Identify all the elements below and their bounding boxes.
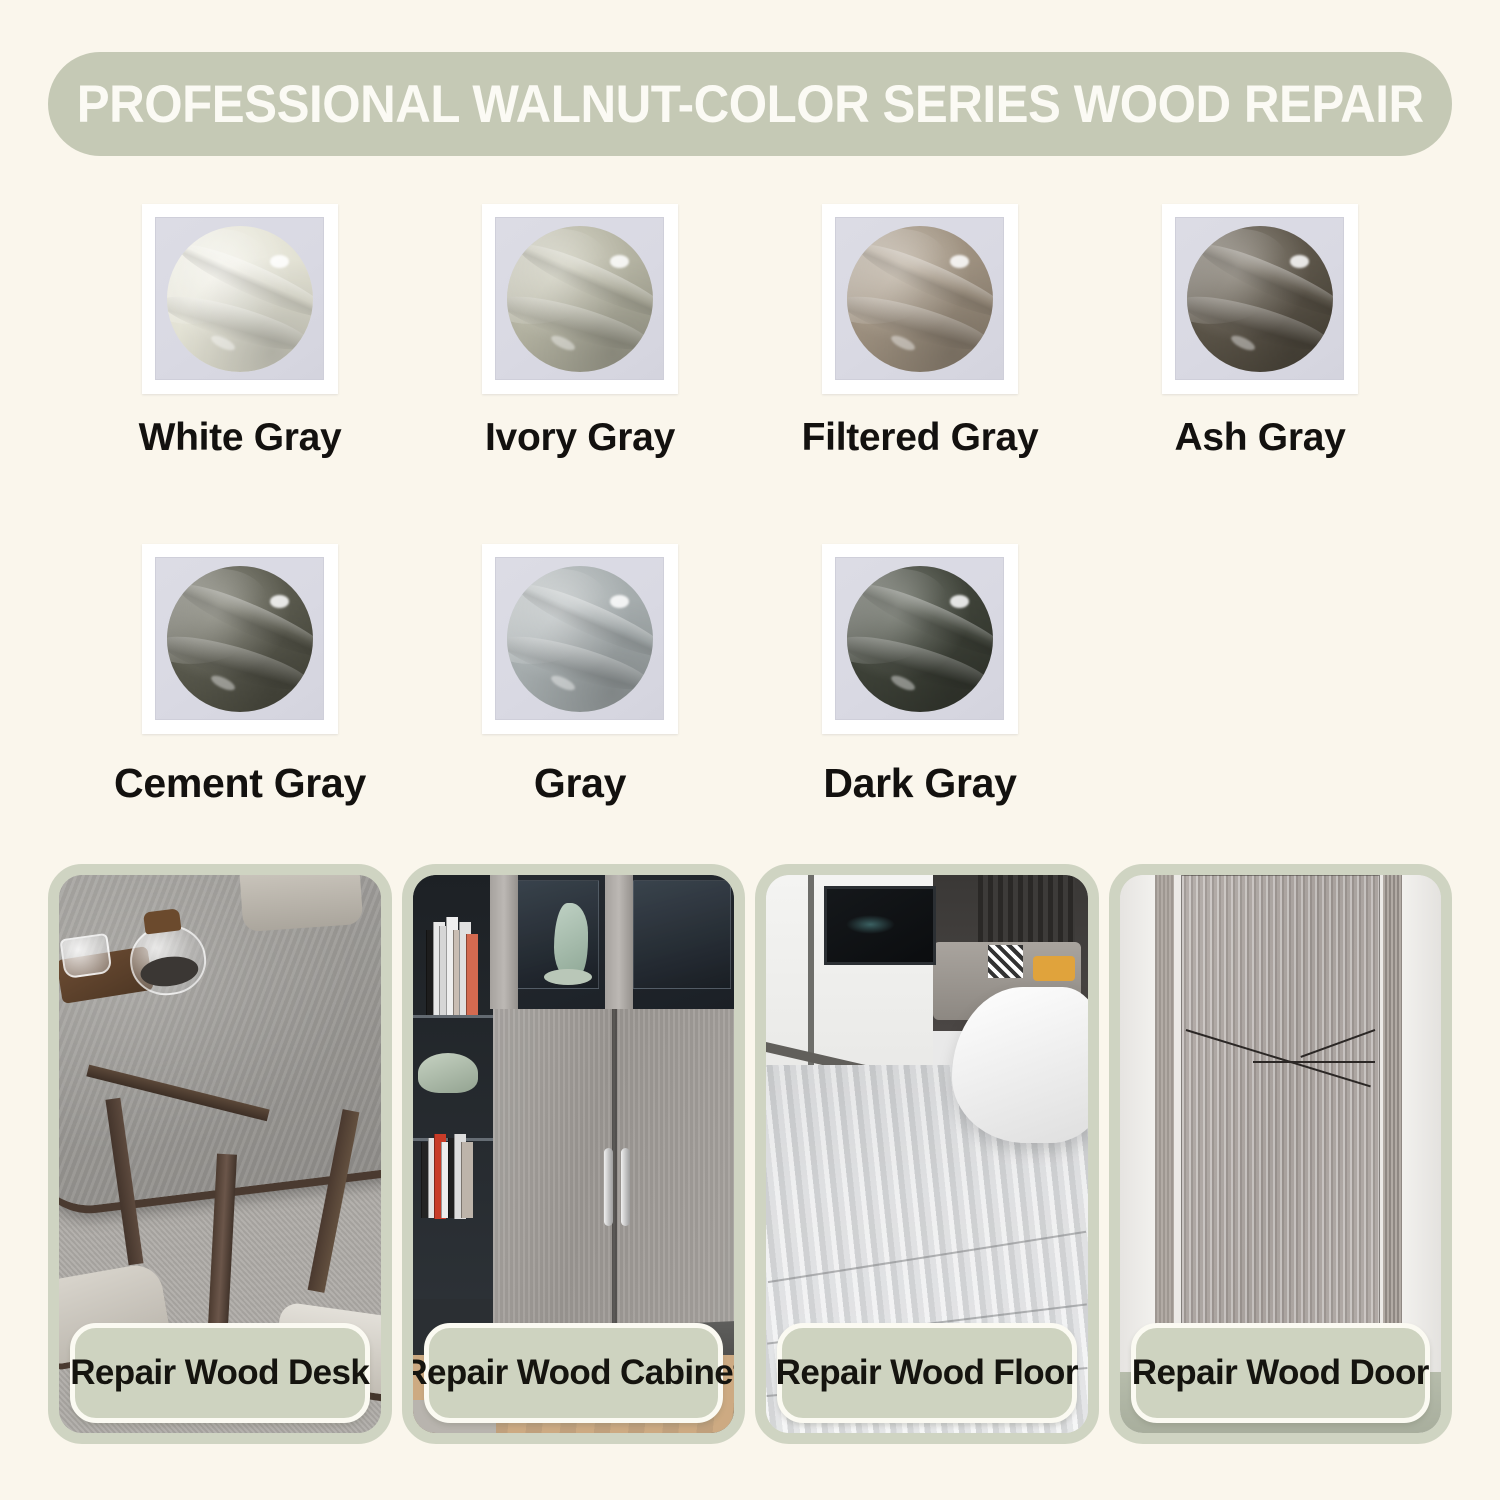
card-label: Repair Wood Desk [70, 1353, 369, 1393]
photo-card-repair-wood-desk[interactable]: Repair Wood Desk [48, 864, 392, 1444]
swatch-label: Filtered Gray [802, 416, 1039, 460]
photo-card-repair-wood-cabinet[interactable]: Repair Wood Cabinet [402, 864, 746, 1444]
swatch-filtered-gray[interactable]: Filtered Gray [750, 204, 1090, 460]
door-groove-horizontal [1253, 1061, 1375, 1063]
color-swatch-grid: White Gray Ivory Gray Filtered G [0, 204, 1500, 807]
swatch-ivory-gray[interactable]: Ivory Gray [410, 204, 750, 460]
swatch-card [1162, 204, 1358, 394]
paste-blob-icon [167, 566, 313, 712]
swatch-gray[interactable]: Gray [410, 544, 750, 807]
swatch-card [822, 204, 1018, 394]
swatch-panel [495, 557, 664, 720]
swatch-label: Ash Gray [1174, 416, 1345, 460]
swatch-panel [155, 217, 324, 380]
door-groove-upper [1300, 1029, 1375, 1058]
photo-card-repair-wood-floor[interactable]: Repair Wood Floor [755, 864, 1099, 1444]
elephant-figurine [418, 1053, 478, 1093]
swatch-label: Dark Gray [823, 760, 1016, 807]
card-label-pill: Repair Wood Door [1131, 1323, 1431, 1423]
cabinet-handle-left[interactable] [604, 1148, 613, 1226]
swatch-card [822, 544, 1018, 734]
swatch-panel [495, 217, 664, 380]
swatch-white-gray[interactable]: White Gray [70, 204, 410, 460]
cabinet-handle-right[interactable] [621, 1148, 630, 1226]
swatch-label: Gray [534, 760, 626, 807]
swatch-cement-gray[interactable]: Cement Gray [70, 544, 410, 807]
chair-top-right [239, 875, 364, 932]
card-label: Repair Wood Door [1132, 1353, 1429, 1393]
door-jamb-left [1155, 875, 1174, 1372]
swatch-label: Cement Gray [114, 760, 366, 807]
door-slab [1181, 875, 1380, 1372]
swatch-card [482, 204, 678, 394]
card-label-pill: Repair Wood Floor [777, 1323, 1077, 1423]
paste-blob-icon [847, 566, 993, 712]
swatch-label: Ivory Gray [485, 416, 675, 460]
card-label-pill: Repair Wood Cabinet [424, 1323, 724, 1423]
swatch-panel [1175, 217, 1344, 380]
header-banner: PROFESSIONAL WALNUT-COLOR SERIES WOOD RE… [48, 52, 1452, 156]
application-photo-row: Repair Wood Desk [48, 864, 1452, 1444]
swatch-card [482, 544, 678, 734]
paste-blob-icon [847, 226, 993, 372]
swatch-ash-gray[interactable]: Ash Gray [1090, 204, 1430, 460]
checked-cushion [988, 945, 1023, 978]
swatch-label: White Gray [139, 416, 342, 460]
cabinet-mullion-center [605, 875, 633, 1009]
paste-blob-icon [1187, 226, 1333, 372]
swatch-dark-gray[interactable]: Dark Gray [750, 544, 1090, 807]
swatch-panel [835, 557, 1004, 720]
glass-cup [60, 933, 113, 979]
swatch-panel [835, 217, 1004, 380]
door-groove-diagonal [1185, 1029, 1371, 1087]
card-label: Repair Wood Floor [776, 1353, 1078, 1393]
swatch-row-2: Cement Gray Gray Dark Gray [70, 544, 1430, 807]
wall-tv [824, 886, 936, 965]
yellow-cushion [1033, 956, 1075, 981]
door-jamb-right [1383, 875, 1402, 1372]
card-label: Repair Wood Cabinet [402, 1353, 744, 1393]
cabinet-mullion-left [490, 875, 518, 1009]
swatch-panel [155, 557, 324, 720]
swatch-empty-slot [1090, 544, 1430, 807]
paste-blob-icon [167, 226, 313, 372]
card-label-pill: Repair Wood Desk [70, 1323, 370, 1423]
paste-blob-icon [507, 566, 653, 712]
paste-blob-icon [507, 226, 653, 372]
ceramic-vase [554, 903, 588, 977]
swatch-row-1: White Gray Ivory Gray Filtered G [70, 204, 1430, 460]
bookshelf-bay [413, 875, 497, 1299]
swatch-card [142, 544, 338, 734]
swatch-card [142, 204, 338, 394]
page-title: PROFESSIONAL WALNUT-COLOR SERIES WOOD RE… [77, 74, 1424, 135]
photo-card-repair-wood-door[interactable]: Repair Wood Door [1109, 864, 1453, 1444]
